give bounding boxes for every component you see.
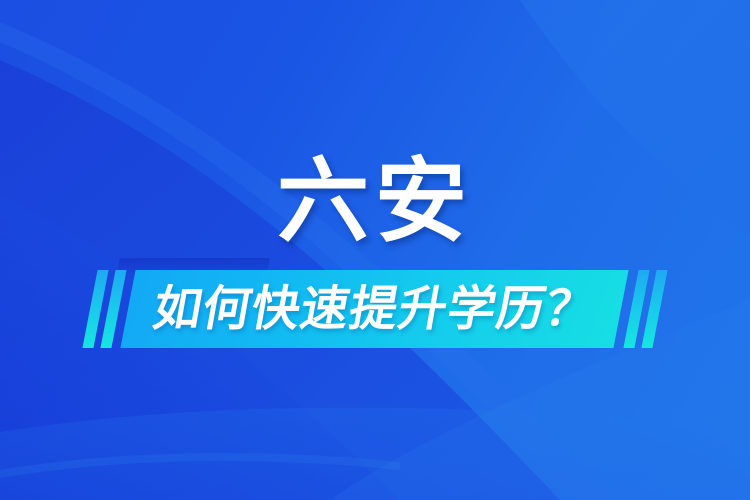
- promo-banner: 六安 如何快速提升学历？: [0, 0, 750, 500]
- subtitle-row: 如何快速提升学历？: [0, 270, 750, 352]
- right-slash-group: [622, 270, 660, 348]
- subtitle-banner: 如何快速提升学历？: [121, 270, 629, 348]
- page-title: 六安: [277, 152, 473, 252]
- title-block: 六安: [0, 152, 750, 252]
- subtitle-text: 如何快速提升学历？: [150, 281, 601, 337]
